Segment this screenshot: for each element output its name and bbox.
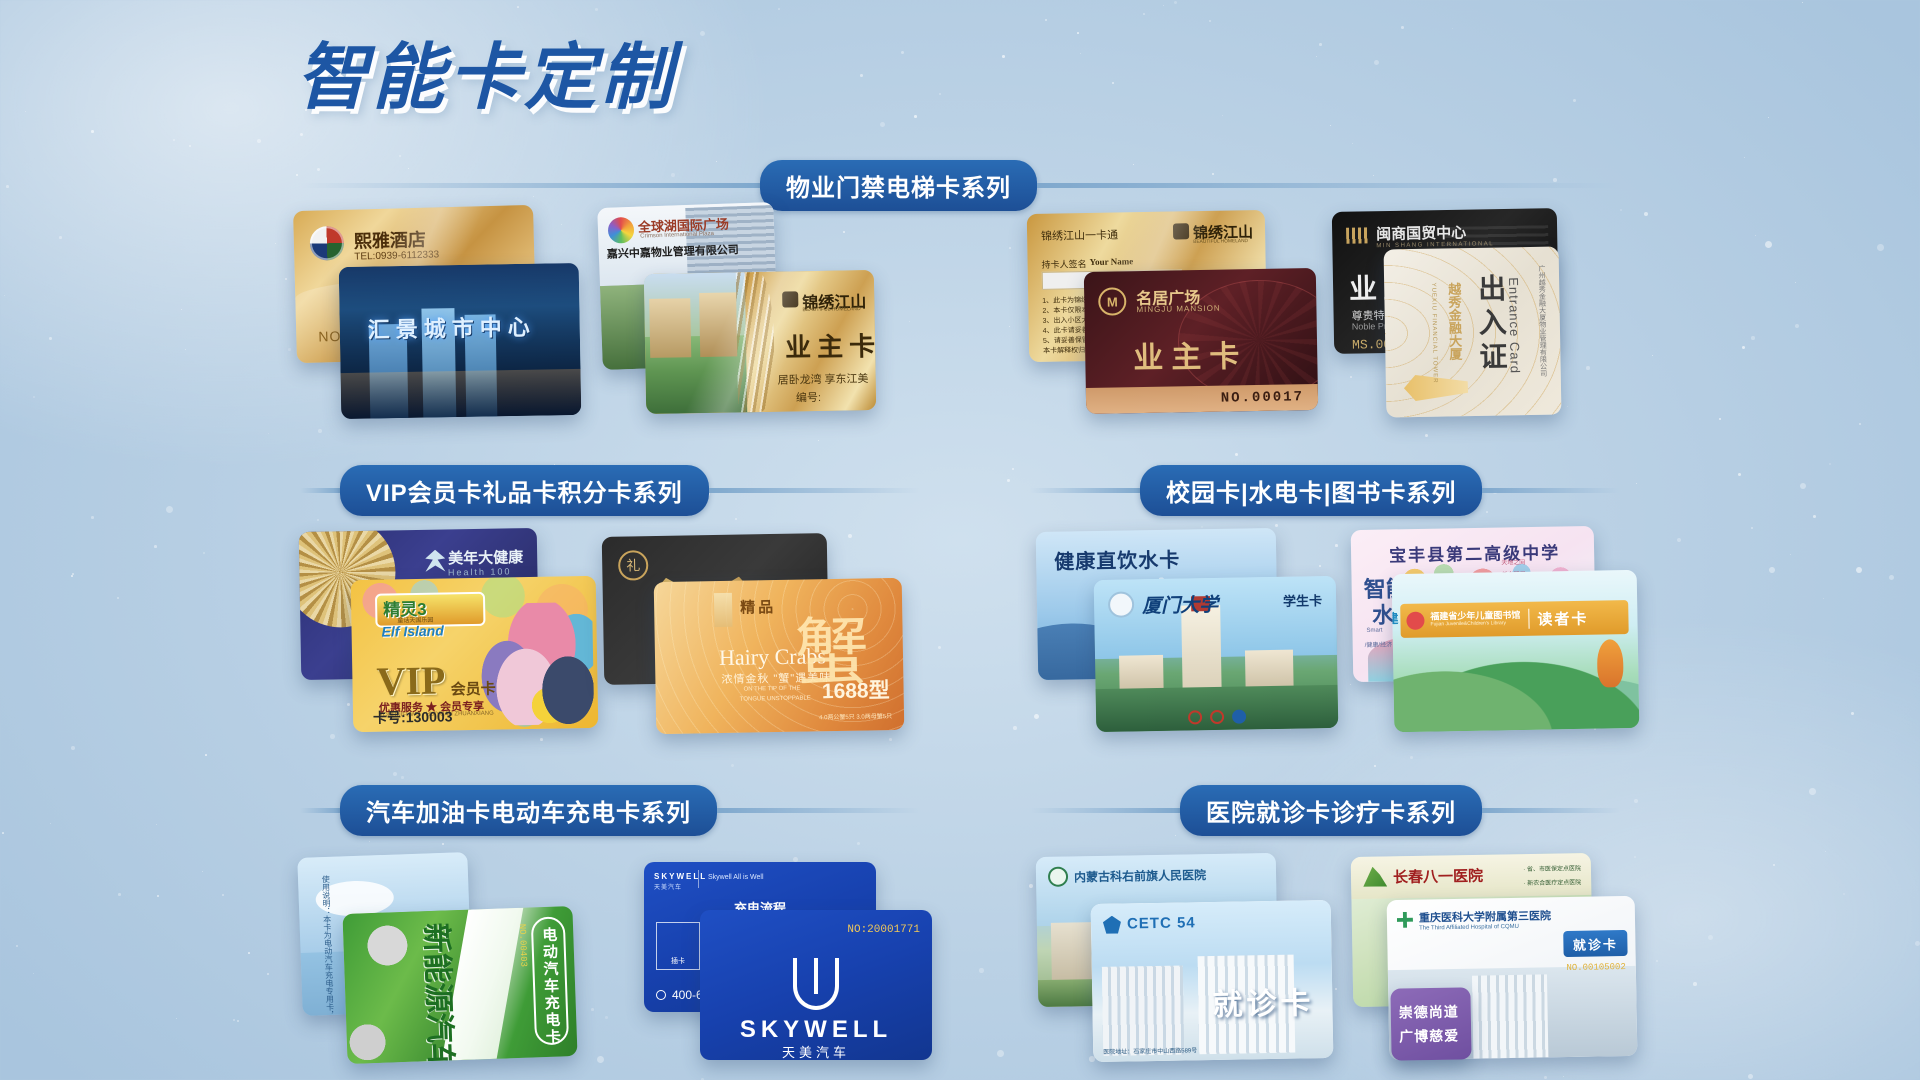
- flow-step-1-label: 插卡: [671, 956, 685, 966]
- entrance-issuer: 广州越秀金融大厦物业管理有限公司: [1536, 265, 1548, 377]
- elf-type: 会员卡: [450, 678, 495, 700]
- crabs-spec: 4.0两公蟹5只 3.0两母蟹5只: [819, 711, 892, 721]
- minshang-logo-icon: [1346, 227, 1368, 243]
- section-header-fuel: 汽车加油卡电动车充电卡系列: [300, 790, 920, 830]
- skywell-serial: NO:20001771: [847, 924, 920, 936]
- elf-vip-text: VIP: [376, 657, 446, 705]
- cqmu-name-en: The Third Affiliated Hospital of CQMU: [1419, 924, 1519, 932]
- mingju-brand-en: MINGJU MANSION: [1136, 304, 1220, 314]
- crab-seal-icon: [714, 593, 733, 627]
- bank-logos: [1188, 709, 1246, 724]
- hotel-tel: TEL:0939-6112333: [354, 249, 439, 262]
- section-label-vip: VIP会员卡礼品卡积分卡系列: [340, 465, 709, 516]
- skywell-flow-brand-cn: 天美汽车: [654, 882, 682, 891]
- card-library-reader[interactable]: 福建省少年儿童图书馆 Fujian Juvenile&Children's Li…: [1392, 570, 1640, 732]
- jinxiu-serial-label: 编号:: [796, 389, 821, 405]
- entrance-title-en: Entrance Card: [1506, 277, 1523, 374]
- water-card-title: 健康直饮水卡: [1054, 544, 1180, 575]
- skywell-flow-hotline: 400-6: [672, 988, 703, 1002]
- card-skywell-main[interactable]: NO:20001771 SKYWELL 天美汽车: [700, 910, 932, 1060]
- header-rule-right: [717, 808, 920, 813]
- card-hairy-crabs[interactable]: 精品 Hairy Crabs 浓情金秋 "蟹"遇美味 ON THE TIP OF…: [654, 578, 905, 734]
- mingju-logo-icon: M: [1098, 287, 1126, 315]
- section-label-property: 物业门禁电梯卡系列: [760, 160, 1037, 211]
- cqmu-type: 就诊卡: [1573, 934, 1618, 954]
- cetc-footer: 医院地址：石家庄市中山西路589号: [1103, 1045, 1197, 1056]
- jinxiu-pass-brand-en: BEAUTIFUL HOMELAND: [1193, 239, 1248, 245]
- library-type: 读者卡: [1537, 607, 1588, 629]
- header-rule-left: [300, 488, 340, 493]
- header-rule-left: [1030, 808, 1180, 813]
- cqmu-type-badge: 就诊卡: [1563, 930, 1627, 957]
- neimenggu-name: 内蒙古科右前旗人民医院: [1074, 866, 1206, 885]
- section-header-vip: VIP会员卡礼品卡积分卡系列: [300, 470, 920, 510]
- header-rule-left: [1030, 488, 1140, 493]
- library-flower-icon: [1406, 612, 1424, 630]
- elf-brand-sub: 童话天国乐园: [397, 615, 433, 625]
- jinxiu-pass-sign-cn: 持卡人签名: [1041, 257, 1086, 271]
- page-title: 智能卡定制: [296, 18, 676, 123]
- jinxiu-slogan: 居卧龙湾 享东江美: [778, 370, 869, 388]
- fujian-brand-en: ExpressingFujian: [1392, 624, 1393, 631]
- header-rule-left: [300, 808, 340, 813]
- library-banner: 福建省少年儿童图书馆 Fujian Juvenile&Children's Li…: [1400, 600, 1629, 638]
- cetc-brand: CETC 54: [1127, 914, 1196, 932]
- changchun-name: 长春八一医院: [1393, 865, 1483, 888]
- minshang-brand: 闽商国贸中心: [1376, 222, 1466, 245]
- chongde-line2: 广博慈爱: [1399, 1026, 1459, 1047]
- ev-serial: NO.00403: [517, 924, 529, 968]
- jinxiu-pass-sign-en: Your Name: [1089, 256, 1133, 267]
- jinxiu-crest-icon: [782, 291, 798, 307]
- jinxiu-type: 业主卡: [785, 326, 876, 365]
- library-name-en: Fujian Juvenile&Children's Library: [1430, 621, 1520, 628]
- health100-brand-en: Health 100: [448, 566, 512, 577]
- elf-brand-en: Elf Island: [381, 623, 444, 640]
- elf-characters: [476, 602, 594, 726]
- mingju-type: 业主卡: [1133, 331, 1248, 377]
- jinxiu-pass-crest-icon: [1173, 223, 1189, 239]
- changchun-tag1: · 省、市医保定点医院: [1523, 863, 1581, 873]
- xmu-school: 厦门大学: [1142, 590, 1218, 618]
- phone-icon: [656, 990, 666, 1000]
- card-city-center[interactable]: 汇景城市中心: [339, 263, 582, 419]
- xmu-type: 学生卡: [1283, 590, 1322, 610]
- crabs-model: 1688型: [822, 674, 890, 705]
- jinxiu-pass-title: 锦绣江山一卡通: [1041, 226, 1118, 243]
- skywell-flow-tagline: Skywell All is Well: [708, 874, 764, 881]
- skywell-brand: SKYWELL: [740, 1016, 892, 1044]
- fujian-brand-cn: 清新福建: [1392, 608, 1399, 628]
- card-mingju-owner[interactable]: M 名居广场 MINGJU MANSION 业主卡 NO.00017: [1084, 268, 1318, 414]
- li-logo-icon: 礼: [618, 550, 649, 581]
- elf-card-no: 卡号:130003: [373, 706, 453, 727]
- card-xmu-student[interactable]: 厦门大学 学生卡: [1094, 576, 1339, 732]
- section-header-campus: 校园卡|水电卡|图书卡系列: [1030, 470, 1620, 510]
- header-rule-right: [1037, 183, 1620, 188]
- cqmu-serial: NO.00105002: [1566, 962, 1626, 973]
- section-label-fuel: 汽车加油卡电动车充电卡系列: [340, 785, 717, 836]
- header-rule-right: [1482, 488, 1620, 493]
- city-center-title: 汇景城市中心: [367, 310, 536, 345]
- changchun-tag2: · 新农合医疗定点医院: [1523, 877, 1581, 887]
- health100-brand: 美年大健康: [448, 546, 523, 568]
- card-jinxiu-owner[interactable]: 锦绣江山 BEAUTIFUL HOMELAND 业主卡 居卧龙湾 享东江美 编号…: [644, 270, 876, 414]
- card-ev-charge[interactable]: 新能源汽车 电动汽车充电卡 NO.00403: [342, 906, 577, 1064]
- section-header-hospital: 医院就诊卡诊疗卡系列: [1030, 790, 1620, 830]
- baofeng-sub-cn: /健康/经济: [1365, 639, 1392, 648]
- card-cetc54[interactable]: CETC 54 就诊卡 医院地址：石家庄市中山西路589号: [1091, 900, 1334, 1062]
- cetc-type: 就诊卡: [1212, 978, 1315, 1024]
- baofeng-tag1: 天地之间: [1501, 557, 1525, 566]
- chongde-line1: 崇德尚道: [1399, 1002, 1459, 1023]
- skywell-brand-cn: 天美汽车: [782, 1042, 850, 1060]
- header-rule-right: [1482, 808, 1620, 813]
- crabs-premium: 精品: [740, 596, 776, 618]
- card-entrance-pass[interactable]: 出入证 Entrance Card 越秀金融大厦 YUEXIU FINANCIA…: [1384, 246, 1562, 417]
- mingju-serial: NO.00017: [1221, 389, 1304, 406]
- health100-logo-icon: [425, 550, 445, 572]
- card-elf-vip[interactable]: 精灵3 Elf Island 童话天国乐园 VIP 会员卡 优惠服务 ★ 会员专…: [351, 576, 599, 732]
- section-header-property: 物业门禁电梯卡系列: [300, 165, 1620, 205]
- flow-step-1: 插卡: [656, 922, 700, 970]
- header-rule-right: [709, 488, 920, 493]
- cqmu-cross-icon: [1397, 912, 1413, 928]
- section-label-hospital: 医院就诊卡诊疗卡系列: [1180, 785, 1482, 836]
- entrance-building: 越秀金融大厦: [1444, 282, 1464, 360]
- cqmu-name-cn: 重庆医科大学附属第三医院: [1419, 907, 1551, 925]
- card-chongde[interactable]: 崇德尚道 广博慈爱: [1390, 987, 1471, 1060]
- jinxiu-brand-en: BEAUTIFUL HOMELAND: [802, 307, 860, 313]
- header-rule-left: [300, 183, 760, 188]
- ev-title-main: 新能源汽车: [417, 922, 466, 1064]
- hotel-logo-icon: [309, 226, 344, 261]
- poster-page: 智能卡定制 物业门禁电梯卡系列 VIP会员卡礼品卡积分卡系列 校园卡|水电卡|图…: [0, 0, 1920, 1080]
- ev-title-side: 电动汽车充电卡: [538, 927, 563, 1047]
- baofeng-school: 宝丰县第二高级中学: [1389, 538, 1560, 566]
- skywell-flow-brand: SKYWELL: [654, 872, 707, 881]
- section-label-campus: 校园卡|水电卡|图书卡系列: [1140, 465, 1482, 516]
- baofeng-sub-en: Smart: [1366, 628, 1382, 634]
- crabs-slogan-en1: ON THE TIP OF THE: [744, 686, 801, 693]
